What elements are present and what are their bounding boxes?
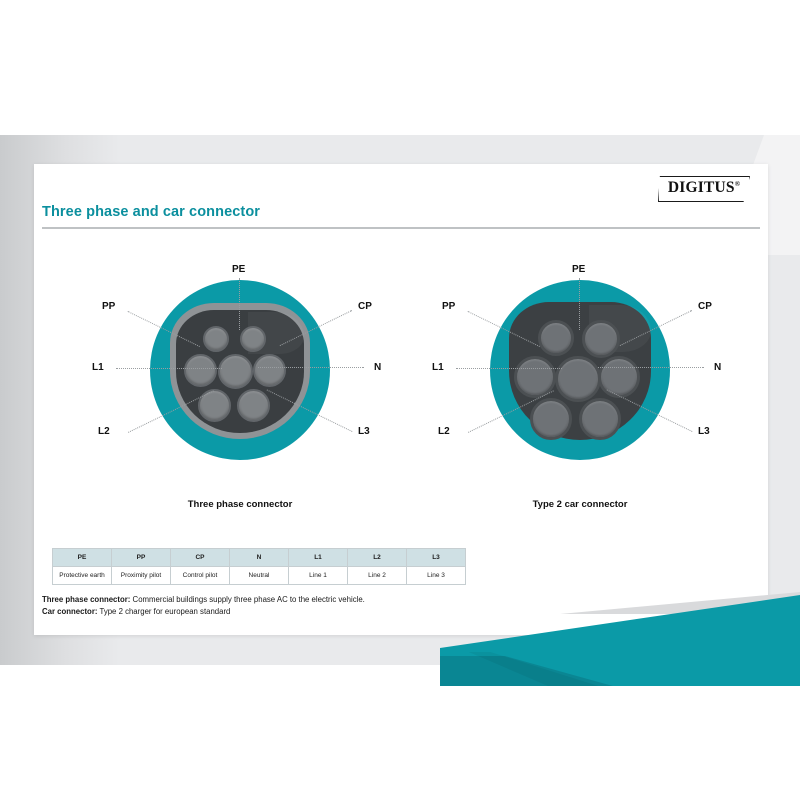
pin-l2 xyxy=(530,398,572,440)
td-l3: Line 3 xyxy=(407,567,466,585)
pin-pe xyxy=(555,356,601,402)
footnote-car-connector-label: Car connector: xyxy=(42,607,97,616)
label-n: N xyxy=(374,362,381,373)
th-l3: L3 xyxy=(407,549,466,567)
td-n: Neutral xyxy=(230,567,289,585)
pin-cp xyxy=(538,320,574,356)
pin-pp xyxy=(240,326,266,352)
label-cp: CP xyxy=(358,301,372,312)
diagram-three-phase-connector: PE PP CP L1 N L2 L3 Three phase connecto… xyxy=(90,256,390,506)
th-l1: L1 xyxy=(289,549,348,567)
pin-pp xyxy=(582,320,620,358)
th-pp: PP xyxy=(112,549,171,567)
pin-cp xyxy=(203,326,229,352)
td-l2: Line 2 xyxy=(348,567,407,585)
pin-n xyxy=(253,354,286,387)
td-l1: Line 1 xyxy=(289,567,348,585)
diagram-type2-car-connector: PE PP CP L1 N L2 L3 Type 2 car connector xyxy=(430,256,730,506)
label-l3: L3 xyxy=(358,426,370,437)
th-cp: CP xyxy=(171,549,230,567)
label-pp: PP xyxy=(102,301,115,312)
registered-trademark-icon: ® xyxy=(735,180,740,188)
pin-l3 xyxy=(237,389,270,422)
label-l1: L1 xyxy=(432,362,444,373)
page-root: DIGITUS® Three phase and car connector xyxy=(0,0,800,800)
pin-l2 xyxy=(198,389,231,422)
td-cp: Control pilot xyxy=(171,567,230,585)
footnote-three-phase-label: Three phase connector: xyxy=(42,595,130,604)
label-pp: PP xyxy=(442,301,455,312)
digitus-logo: DIGITUS® xyxy=(658,176,750,202)
label-cp: CP xyxy=(698,301,712,312)
th-pe: PE xyxy=(53,549,112,567)
table-header-row: PE PP CP N L1 L2 L3 xyxy=(53,549,466,567)
pin-l1 xyxy=(184,354,217,387)
title-divider xyxy=(42,227,760,229)
leader-pe xyxy=(579,278,580,330)
label-l1: L1 xyxy=(92,362,104,373)
label-n: N xyxy=(714,362,721,373)
logo-wordmark: DIGITUS® xyxy=(658,179,750,197)
leader-n xyxy=(258,367,364,368)
label-pe: PE xyxy=(572,264,585,275)
connector-caption-type2: Type 2 car connector xyxy=(430,499,730,510)
footnote-three-phase: Three phase connector: Commercial buildi… xyxy=(42,595,365,604)
page-title: Three phase and car connector xyxy=(42,204,260,220)
td-pe: Protective earth xyxy=(53,567,112,585)
pin-n xyxy=(598,356,640,398)
leader-l1 xyxy=(116,368,222,369)
decor-teal-corner xyxy=(440,586,800,686)
label-l2: L2 xyxy=(98,426,110,437)
th-n: N xyxy=(230,549,289,567)
footnote-car-connector: Car connector: Type 2 charger for europe… xyxy=(42,607,230,616)
footnote-car-connector-text: Type 2 charger for european standard xyxy=(97,607,230,616)
leader-pe xyxy=(239,278,240,330)
content-card: DIGITUS® Three phase and car connector xyxy=(34,164,768,635)
leader-l1 xyxy=(456,368,562,369)
label-l2: L2 xyxy=(438,426,450,437)
logo-wordmark-text: DIGITUS xyxy=(668,179,735,196)
td-pp: Proximity pilot xyxy=(112,567,171,585)
footnote-three-phase-text: Commercial buildings supply three phase … xyxy=(130,595,364,604)
pin-l3 xyxy=(579,398,621,440)
legend-table: PE PP CP N L1 L2 L3 Protective earth Pro… xyxy=(52,548,466,585)
connector-caption-three-phase: Three phase connector xyxy=(90,499,390,510)
th-l2: L2 xyxy=(348,549,407,567)
pin-pe xyxy=(218,354,253,389)
table-row: Protective earth Proximity pilot Control… xyxy=(53,567,466,585)
label-pe: PE xyxy=(232,264,245,275)
label-l3: L3 xyxy=(698,426,710,437)
leader-n xyxy=(598,367,704,368)
